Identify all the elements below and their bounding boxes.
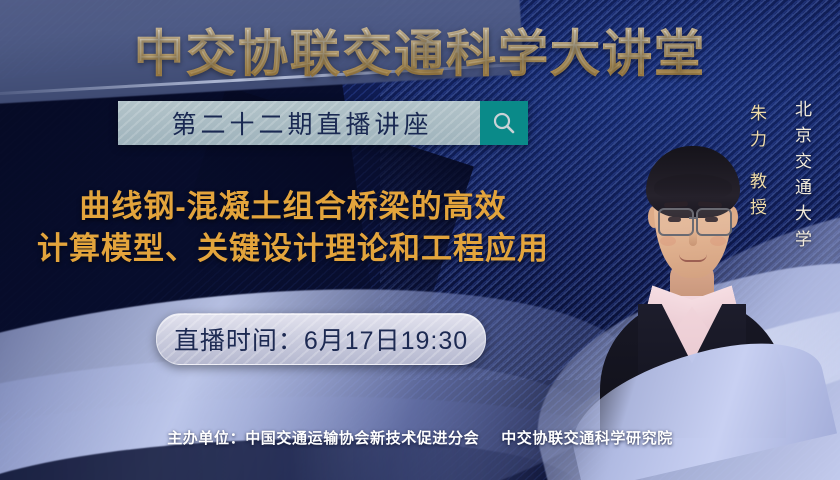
main-title: 中交协联交通科学大讲堂 — [0, 14, 840, 86]
footer: 主办单位：中国交通运输协会新技术促进分会中交协联交通科学研究院 — [0, 427, 840, 448]
broadcast-time-label: 直播时间：6月17日19:30 — [174, 321, 468, 357]
portrait-cheek-right — [710, 236, 726, 246]
footer-institute: 中交协联交通科学研究院 — [501, 430, 673, 447]
subtitle-bar: 第二十二期直播讲座 — [118, 101, 528, 145]
lecture-title-line-2: 计算模型、关键设计理论和工程应用 — [0, 228, 586, 270]
footer-organizer: 主办单位：中国交通运输协会新技术促进分会 — [167, 430, 479, 447]
speaker-name: 朱力 — [744, 104, 769, 156]
portrait-glasses-bridge — [689, 217, 698, 219]
poster-canvas: 中交协联交通科学大讲堂 第二十二期直播讲座 曲线钢-混凝土组合桥梁的高效 计算模… — [0, 0, 840, 480]
lecture-title: 曲线钢-混凝土组合桥梁的高效 计算模型、关键设计理论和工程应用 — [0, 186, 586, 270]
speaker-organization: 北京交通大学 — [789, 100, 814, 256]
portrait-nose — [689, 230, 697, 246]
speaker-role: 教授 — [744, 172, 769, 224]
subtitle-label: 第二十二期直播讲座 — [165, 105, 432, 141]
lecture-title-line-1: 曲线钢-混凝土组合桥梁的高效 — [0, 186, 586, 228]
portrait-hair-fringe — [654, 174, 732, 200]
broadcast-time-badge: 直播时间：6月17日19:30 — [156, 313, 486, 365]
search-icon[interactable] — [480, 101, 528, 145]
speaker-portrait — [598, 118, 788, 418]
portrait-mouth — [679, 254, 707, 262]
portrait-glasses-right-lens — [696, 208, 732, 236]
subtitle-bar-label-area: 第二十二期直播讲座 — [118, 101, 480, 145]
portrait-cheek-left — [660, 236, 676, 246]
